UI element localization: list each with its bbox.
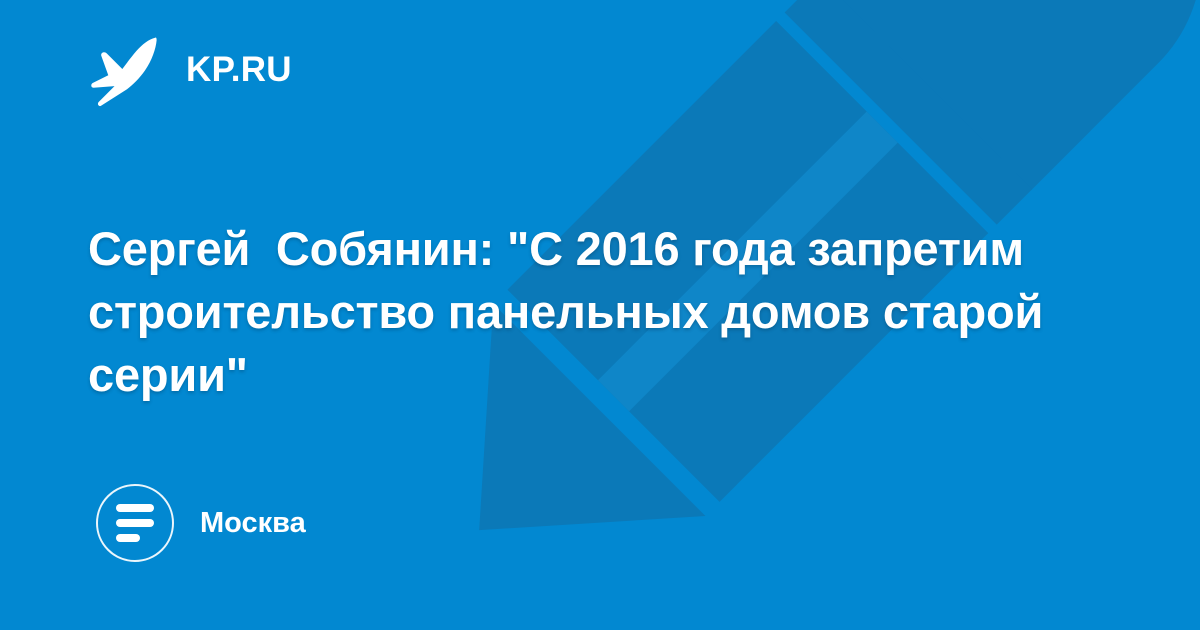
- menu-bar-top: [116, 504, 154, 512]
- section-footer[interactable]: Москва: [96, 484, 306, 562]
- section-label: Москва: [200, 509, 306, 538]
- menu-bar-bottom: [116, 534, 140, 542]
- social-share-card: KP.RU Сергей Собянин: "С 2016 года запре…: [0, 0, 1200, 630]
- headline: Сергей Собянин: "С 2016 года запретим ст…: [88, 217, 1048, 406]
- brand-name: KP.RU: [186, 52, 292, 87]
- swallow-bird-icon: [88, 30, 166, 108]
- hamburger-menu-icon[interactable]: [96, 484, 174, 562]
- menu-bar-middle: [116, 519, 154, 527]
- brand-header[interactable]: KP.RU: [88, 30, 292, 108]
